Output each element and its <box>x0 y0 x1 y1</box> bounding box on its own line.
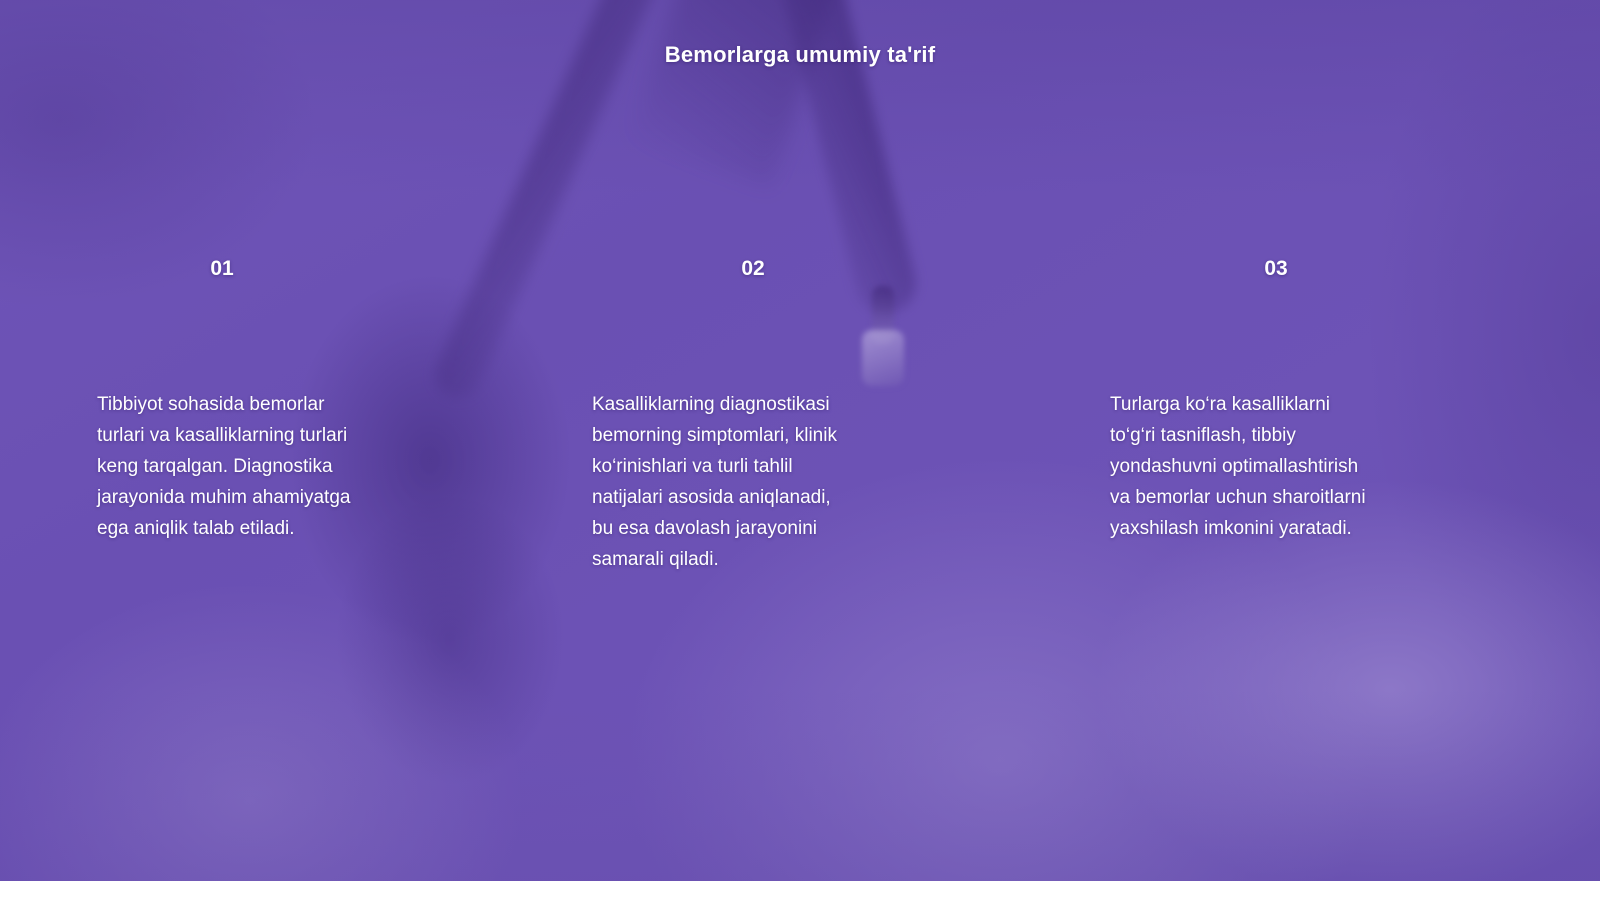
column-body-01: Tibbiyot sohasida bemorlar turlari va ka… <box>97 389 437 544</box>
column-body-02: Kasalliklarning diagnostikasi bemorning … <box>592 389 922 575</box>
slide-title: Bemorlarga umumiy ta'rif <box>0 42 1600 68</box>
column-number-02: 02 <box>584 258 922 279</box>
column-01: 01 Tibbiyot sohasida bemorlar turlari va… <box>97 258 437 544</box>
presentation-slide: Bemorlarga umumiy ta'rif 01 Tibbiyot soh… <box>0 0 1600 881</box>
column-number-01: 01 <box>7 258 437 279</box>
column-number-03: 03 <box>1102 258 1450 279</box>
column-02: 02 Kasalliklarning diagnostikasi bemorni… <box>592 258 922 575</box>
column-body-03: Turlarga ko‘ra kasalliklarni to‘g‘ri tas… <box>1110 389 1450 544</box>
slide-content: Bemorlarga umumiy ta'rif 01 Tibbiyot soh… <box>0 0 1600 881</box>
column-03: 03 Turlarga ko‘ra kasalliklarni to‘g‘ri … <box>1110 258 1450 544</box>
bottom-white-strip <box>0 881 1600 900</box>
